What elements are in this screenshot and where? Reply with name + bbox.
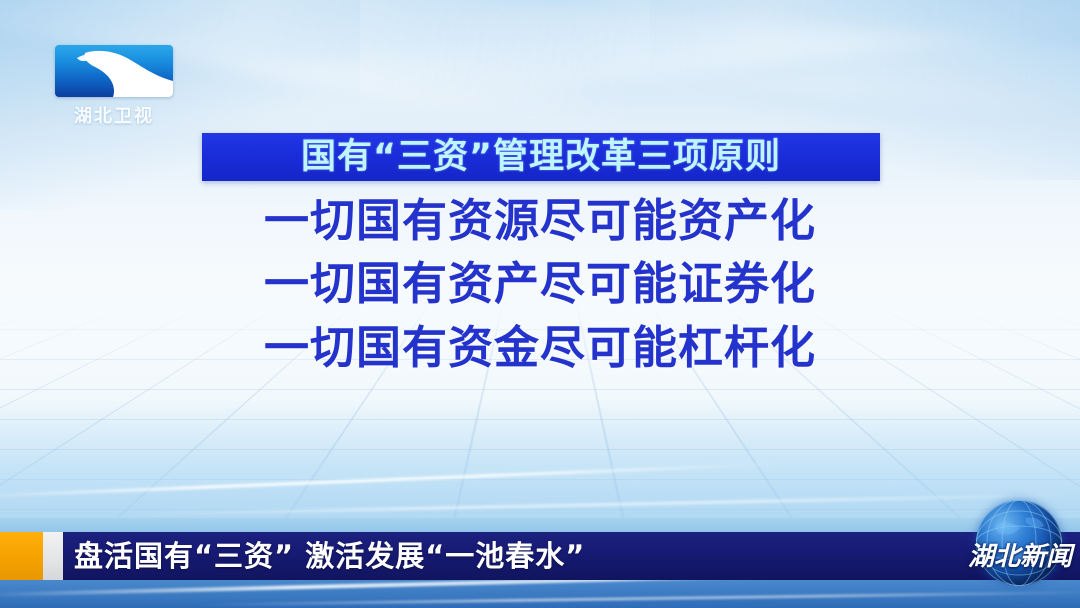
program-badge: 湖北新闻 xyxy=(926,500,1074,586)
program-name-label: 湖北新闻 xyxy=(968,544,1072,570)
headline-banner-title: 国有“三资”管理改革三项原则 xyxy=(301,140,781,175)
horizon-glow xyxy=(0,398,1080,518)
principle-line-1: 一切国有资源尽可能资产化 xyxy=(264,196,816,246)
light-streak-1 xyxy=(0,463,780,499)
background-swoosh-3 xyxy=(558,8,1080,121)
lower-third-accent-orange xyxy=(0,532,43,580)
background-swoosh-2 xyxy=(417,0,1080,99)
lower-third-accent-gray xyxy=(43,532,63,580)
lower-third-headline: 盘活国有“三资” 激活发展“一池春水” xyxy=(74,542,585,571)
channel-name-label: 湖北卫视 xyxy=(55,102,173,128)
channel-logo: 湖北卫视 xyxy=(55,45,173,128)
broadcast-frame: 湖北卫视 国有“三资”管理改革三项原则 一切国有资源尽可能资产化 一切国有资产尽… xyxy=(0,0,1080,608)
principle-line-2: 一切国有资产尽可能证券化 xyxy=(264,259,816,309)
headline-banner: 国有“三资”管理改革三项原则 xyxy=(202,133,880,181)
river-swoosh-logo-icon xyxy=(55,45,173,97)
lower-third: 盘活国有“三资” 激活发展“一池春水” xyxy=(0,518,1080,608)
principles-list: 一切国有资源尽可能资产化 一切国有资产尽可能证券化 一切国有资金尽可能杠杆化 xyxy=(0,196,1080,373)
principle-line-3: 一切国有资金尽可能杠杆化 xyxy=(264,323,816,373)
